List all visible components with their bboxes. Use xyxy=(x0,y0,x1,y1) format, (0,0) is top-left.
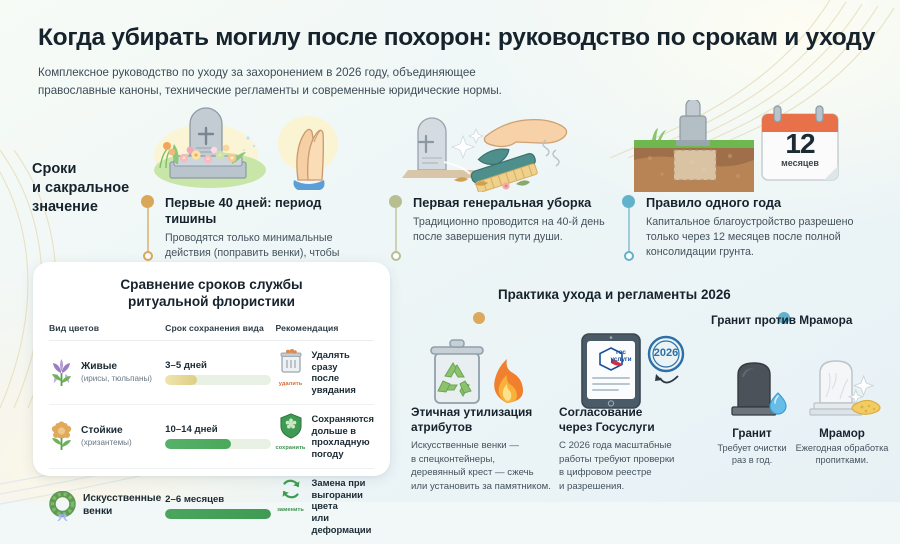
cell-duration-3: 2–6 месяцев xyxy=(165,468,275,543)
column-header-flower-type: Вид цветов xyxy=(49,323,165,341)
timeline-dot-2 xyxy=(389,195,402,208)
timeline-stem-end-2 xyxy=(391,251,401,261)
rec-tag-1: удалить xyxy=(276,381,306,387)
flower-sub-1: (ирисы, тюльпаны) xyxy=(81,374,152,384)
duration-value-3: 2–6 месяцев xyxy=(165,494,275,505)
table-row: Живые (ирисы, тюльпаны) 3–5 дней xyxy=(49,340,374,404)
gosuslugi-logo-line-2: услуги xyxy=(598,357,644,364)
flower-name-2: Стойкие xyxy=(81,425,132,438)
timeline-text-3-line-3: консолидации грунта. xyxy=(646,245,872,260)
timeline-text-2: Традиционно проводится на 40-й день посл… xyxy=(413,215,614,245)
calendar-number: 12 xyxy=(752,128,848,160)
trash-and-fire-illustration xyxy=(423,337,533,409)
timeline-text-3-line-1: Капитальное благоустройство разрешено xyxy=(646,215,872,230)
rec-tag-2: сохранить xyxy=(276,445,306,451)
timeline-dot-1 xyxy=(141,195,154,208)
shield-preserve-icon xyxy=(279,413,303,439)
rec-text-2-line-1: Сохраняются xyxy=(312,413,374,425)
trash-bin-icon xyxy=(279,349,303,375)
timeline-item-3[interactable]: Правило одного года Капитальное благоуст… xyxy=(622,195,872,261)
column-header-recommendation: Рекомендация xyxy=(276,323,374,341)
timeline-text-2-line-2: после завершения пути души. xyxy=(413,230,614,245)
practice-block-2-line-1: С 2026 года масштабные xyxy=(559,439,699,453)
practice-block-1-heading: Этичная утилизация атрибутов xyxy=(411,405,551,434)
rec-text-2-line-3: прохладную погоду xyxy=(312,436,374,460)
rec-text-2: Сохраняются дольше в прохладную погоду xyxy=(312,413,374,460)
flower-comparison-card: Сравнение сроков службы ритуальной флори… xyxy=(33,262,390,476)
duration-bar-fill-2 xyxy=(165,439,231,449)
section-label-line-2: и сакральное xyxy=(32,179,150,198)
duration-bar-track-1 xyxy=(165,375,271,385)
table-row: Искусственные венки 2–6 месяцев xyxy=(49,468,374,543)
grave-with-flowers-illustration xyxy=(140,98,275,193)
practice-block-1-text: Искусственные венки — в спецконтейнеры, … xyxy=(411,439,551,493)
material-marble-note-line-2: пропитками. xyxy=(784,454,900,466)
practice-block-2[interactable]: Согласование через Госуслуги С 2026 года… xyxy=(559,405,699,493)
timeline-text-1-line-1: Проводятся только минимальные xyxy=(165,231,356,246)
artificial-wreath-icon xyxy=(49,491,76,521)
header: Когда убирать могилу после похорон: руко… xyxy=(38,24,878,100)
timeline-heading-3: Правило одного года xyxy=(646,195,872,211)
flower-sub-2: (хризантемы) xyxy=(81,438,132,448)
timeline-text-3-line-2: только через 12 месяцев после полной xyxy=(646,230,872,245)
materials-title: Гранит против Мрамора xyxy=(711,313,852,327)
timeline-heading-1: Первые 40 дней: период тишины xyxy=(165,195,356,227)
practice-block-1[interactable]: Этичная утилизация атрибутов Искусственн… xyxy=(411,405,551,493)
timeline-text-2-line-1: Традиционно проводится на 40-й день xyxy=(413,215,614,230)
practice-block-2-heading-line-2: через Госуслуги xyxy=(559,420,699,435)
page-subtitle: Комплексное руководство по уходу за захо… xyxy=(38,64,598,100)
practice-block-2-line-4: и разрешения. xyxy=(559,480,699,494)
subtitle-line-1: Комплексное руководство по уходу за захо… xyxy=(38,64,598,82)
practice-dot-1 xyxy=(473,312,485,324)
duration-bar-fill-1 xyxy=(165,375,197,385)
table-header-row: Вид цветов Срок сохранения вида Рекоменд… xyxy=(49,323,374,341)
gosuslugi-logo-text: гос услуги xyxy=(598,350,644,363)
flower-name-1: Живые xyxy=(81,361,152,374)
practice-block-1-line-1: Искусственные венки — xyxy=(411,439,551,453)
material-marble-name: Мрамор xyxy=(784,427,900,440)
practice-block-1-line-3: деревянный крест — сжечь xyxy=(411,466,551,480)
rec-text-3-line-2: выгорании цвета xyxy=(312,489,374,513)
duration-value-2: 10–14 дней xyxy=(165,424,275,435)
flower-name-3: Искусственные xyxy=(83,493,161,506)
practice-block-2-heading: Согласование через Госуслуги xyxy=(559,405,699,434)
rec-text-3-line-1: Замена при xyxy=(312,477,374,489)
practice-block-1-line-2: в спецконтейнеры, xyxy=(411,453,551,467)
table-row: Стойкие (хризантемы) 10–14 дней xyxy=(49,404,374,468)
practice-block-1-heading-line-2: атрибутов xyxy=(411,420,551,435)
timeline-stem-3 xyxy=(628,208,630,254)
timeline-heading-2: Первая генеральная уборка xyxy=(413,195,614,211)
timeline-text-1-line-2: действия (поправить венки), чтобы xyxy=(165,246,356,261)
practice-block-2-line-3: в цифровом реестре xyxy=(559,466,699,480)
duration-value-1: 3–5 дней xyxy=(165,360,275,371)
practice-block-1-heading-line-1: Этичная утилизация xyxy=(411,405,551,420)
material-marble[interactable]: Мрамор Ежегодная обработка пропитками. xyxy=(784,427,900,467)
cell-recommendation-3: заменить Замена при выгорании цвета или … xyxy=(276,468,374,543)
timeline-stem-2 xyxy=(395,208,397,254)
rec-text-1: Удалять сразу после увядания xyxy=(312,349,374,396)
chrysanthemum-flower-icon xyxy=(49,421,74,451)
cell-flower-type-1: Живые (ирисы, тюльпаны) xyxy=(49,340,165,404)
cell-recommendation-2: сохранить Сохраняются дольше в прохладну… xyxy=(276,404,374,468)
timeline-text-3: Капитальное благоустройство разрешено то… xyxy=(646,215,872,261)
marble-headstone-icon xyxy=(806,353,884,419)
cell-duration-2: 10–14 дней xyxy=(165,404,275,468)
year-stamp-2026: 2026 xyxy=(649,347,683,359)
practice-block-2-heading-line-1: Согласование xyxy=(559,405,699,420)
calendar-unit: месяцев xyxy=(752,158,848,168)
flower-comparison-table: Вид цветов Срок сохранения вида Рекоменд… xyxy=(49,323,374,544)
hand-with-brush-illustration xyxy=(398,100,583,192)
flower-card-title: Сравнение сроков службы ритуальной флори… xyxy=(49,276,374,311)
practice-section-title: Практика ухода и регламенты 2026 xyxy=(498,287,731,302)
material-marble-note: Ежегодная обработка пропитками. xyxy=(784,442,900,467)
rec-text-3-line-3: или деформации xyxy=(312,512,374,536)
soil-consolidation-illustration xyxy=(634,100,754,192)
cell-flower-type-2: Стойкие (хризантемы) xyxy=(49,404,165,468)
cell-flower-type-3: Искусственные венки xyxy=(49,468,165,543)
rec-text-1-line-1: Удалять сразу xyxy=(312,349,374,373)
timeline-stem-1 xyxy=(147,208,149,254)
cell-duration-1: 3–5 дней xyxy=(165,340,275,404)
section-label-line-1: Сроки xyxy=(32,160,150,179)
gosuslugi-tablet-illustration xyxy=(578,332,688,410)
iris-flower-icon xyxy=(49,357,74,387)
timeline-dot-3 xyxy=(622,195,635,208)
flower-name-3-line2: венки xyxy=(83,506,161,519)
subtitle-line-2: православные каноны, технические регламе… xyxy=(38,82,598,100)
column-header-duration: Срок сохранения вида xyxy=(165,323,275,341)
infographic-canvas: Когда убирать могилу после похорон: руко… xyxy=(0,0,900,502)
timeline-stem-end-1 xyxy=(143,251,153,261)
material-marble-note-line-1: Ежегодная обработка xyxy=(784,442,900,454)
rec-tag-3: заменить xyxy=(276,507,306,513)
rec-text-1-line-2: после увядания xyxy=(312,372,374,396)
practice-block-1-line-4: или установить за памятником. xyxy=(411,480,551,494)
praying-hands-illustration xyxy=(268,102,348,190)
duration-bar-fill-3 xyxy=(165,509,271,519)
cell-recommendation-1: удалить Удалять сразу после увядания xyxy=(276,340,374,404)
practice-block-2-line-2: работы требуют проверки xyxy=(559,453,699,467)
practice-block-2-text: С 2026 года масштабные работы требуют пр… xyxy=(559,439,699,493)
flower-card-title-line-2: ритуальной флористики xyxy=(49,293,374,310)
granite-headstone-icon xyxy=(722,355,794,419)
timeline-item-2[interactable]: Первая генеральная уборка Традиционно пр… xyxy=(389,195,614,245)
section-label-timing: Сроки и сакральное значение xyxy=(32,160,150,217)
timeline-stem-end-3 xyxy=(624,251,634,261)
rec-text-2-line-2: дольше в xyxy=(312,425,374,437)
duration-bar-track-2 xyxy=(165,439,271,449)
replace-arrows-icon xyxy=(279,477,303,501)
section-label-line-3: значение xyxy=(32,198,150,217)
duration-bar-track-3 xyxy=(165,509,271,519)
flower-card-title-line-1: Сравнение сроков службы xyxy=(49,276,374,293)
page-title: Когда убирать могилу после похорон: руко… xyxy=(38,24,878,52)
rec-text-3: Замена при выгорании цвета или деформаци… xyxy=(312,477,374,536)
